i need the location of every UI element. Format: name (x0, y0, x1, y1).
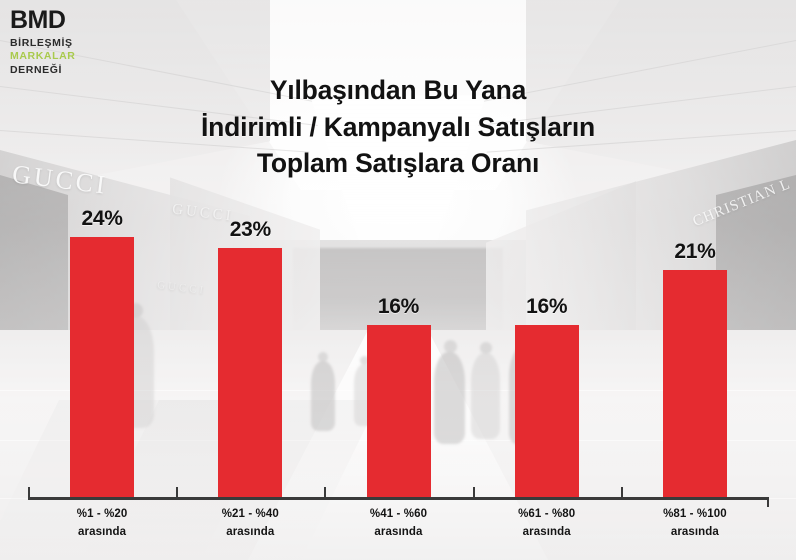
bar[interactable] (367, 325, 431, 500)
bar-value-label: 23% (230, 218, 271, 242)
slide-canvas: GUCCI GUCCI GUCCI CHRISTIAN L BMD BİRLEŞ… (0, 0, 796, 560)
category-label-line: arasında (28, 524, 176, 542)
bar-group[interactable]: 24% (70, 193, 134, 500)
bar-value-label: 21% (674, 240, 715, 264)
category-label-line: arasında (473, 524, 621, 542)
category-label-line: arasında (621, 524, 769, 542)
bar-value-label: 16% (378, 295, 419, 319)
plot-area: 24%23%16%16%21% (0, 190, 796, 500)
x-axis-tick (621, 487, 623, 498)
category-label-line: %81 - %100 (621, 506, 769, 524)
bar-group[interactable]: 21% (663, 193, 727, 500)
bar[interactable] (515, 325, 579, 500)
bar-group[interactable]: 16% (515, 193, 579, 500)
category-label-line: %41 - %60 (324, 506, 472, 524)
category-label: %61 - %80arasında (473, 506, 621, 542)
category-label: %41 - %60arasında (324, 506, 472, 542)
bar[interactable] (70, 237, 134, 500)
bar[interactable] (218, 248, 282, 500)
x-axis-tick-start (28, 487, 30, 498)
x-axis-tick (176, 487, 178, 498)
bar[interactable] (663, 270, 727, 500)
bar-value-label: 24% (82, 207, 123, 231)
x-axis-line (28, 497, 769, 500)
category-label-line: %61 - %80 (473, 506, 621, 524)
category-label: %21 - %40arasında (176, 506, 324, 542)
category-label-line: %1 - %20 (28, 506, 176, 524)
category-label: %1 - %20arasında (28, 506, 176, 542)
x-axis-tick (324, 487, 326, 498)
bar-group[interactable]: 16% (367, 193, 431, 500)
category-labels: %1 - %20arasında%21 - %40arasında%41 - %… (0, 506, 796, 552)
category-label-line: %21 - %40 (176, 506, 324, 524)
category-label-line: arasında (176, 524, 324, 542)
bar-value-label: 16% (526, 295, 567, 319)
bar-group[interactable]: 23% (218, 193, 282, 500)
x-axis-tick (473, 487, 475, 498)
bar-chart: 24%23%16%16%21% %1 - %20arasında%21 - %4… (0, 0, 796, 560)
category-label: %81 - %100arasında (621, 506, 769, 542)
category-label-line: arasında (324, 524, 472, 542)
